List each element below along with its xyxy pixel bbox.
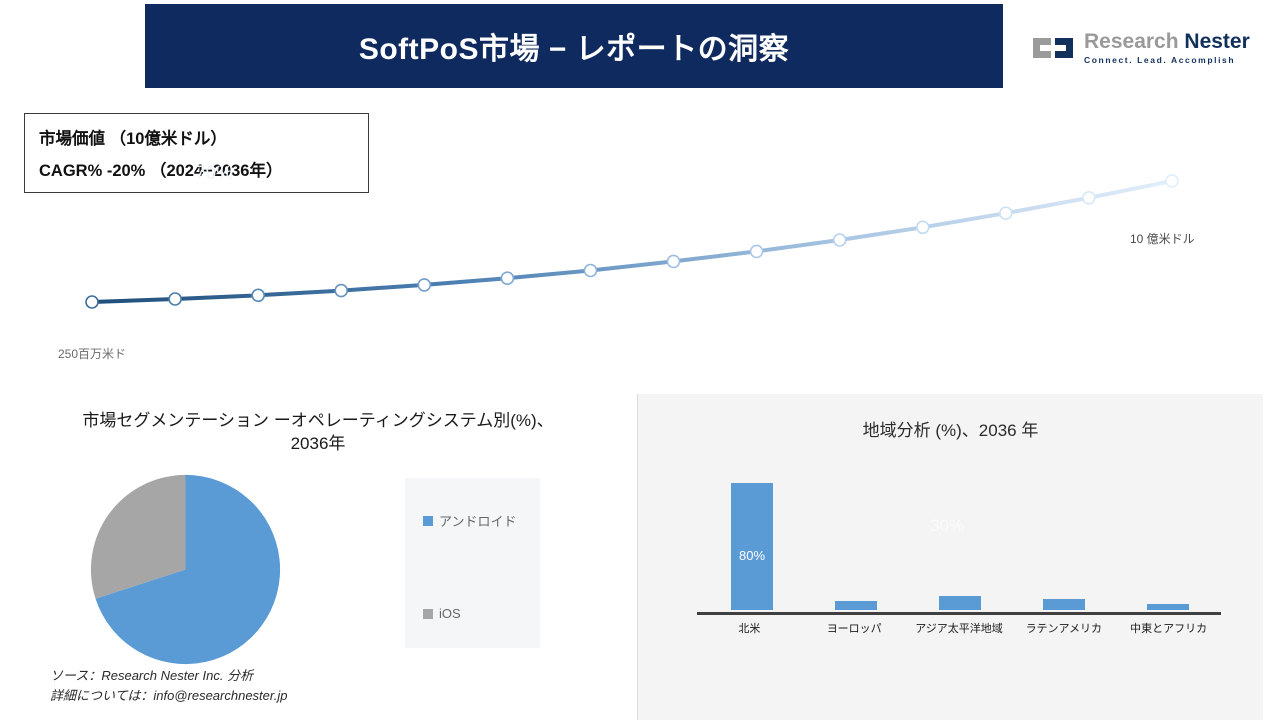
linked-squares-logo-icon (1030, 33, 1076, 63)
header-banner: SoftPoS市場 − レポートの洞察 (145, 4, 1003, 88)
bar-category-label: 北米 (697, 620, 802, 636)
bar[interactable] (835, 601, 877, 611)
logo-word-nester: Nester (1184, 30, 1249, 53)
line-marker (751, 245, 763, 257)
pie-chart-svg (88, 472, 283, 667)
bar-chart-title: 地域分析 (%)、2036 年 (638, 416, 1263, 441)
bar[interactable] (1043, 599, 1085, 610)
bar-cell: 80% (700, 470, 804, 610)
line-marker (501, 272, 513, 284)
logo-text: Research Nester Connect. Lead. Accomplis… (1084, 31, 1250, 65)
line-marker (1000, 207, 1012, 219)
line-marker (335, 285, 347, 297)
source-line-1: ソース：Research Nester Inc. 分析 (50, 666, 287, 686)
bar-category-label: ヨーロッパ (802, 620, 907, 636)
bar[interactable] (939, 596, 981, 610)
bar-cell (1012, 470, 1116, 610)
bar-cell (908, 470, 1012, 610)
legend-item-ios[interactable]: iOS (423, 606, 461, 621)
line-marker (668, 255, 680, 267)
bar[interactable] (1147, 604, 1189, 610)
logo-word-research: Research (1084, 30, 1179, 53)
line-marker (86, 296, 98, 308)
bar-cell (1116, 470, 1220, 610)
page-title: SoftPoS市場 − レポートの洞察 (359, 24, 789, 68)
logo-tagline: Connect. Lead. Accomplish (1084, 56, 1250, 65)
legend-swatch-ios (423, 609, 433, 619)
source-note: ソース：Research Nester Inc. 分析 詳細については：info… (50, 666, 287, 706)
source-line-2: 詳細については：info@researchnester.jp (50, 686, 287, 706)
market-value-line-chart: 250百万米ド 10 億米ドル 2023年2024年2025年2026年2027… (0, 100, 1280, 390)
legend-item-android[interactable]: アンドロイド (423, 511, 516, 530)
pie-slices (91, 475, 280, 664)
research-nester-logo: Research Nester Connect. Lead. Accomplis… (1030, 22, 1265, 74)
line-marker (252, 289, 264, 301)
line-marker (834, 234, 846, 246)
pie-legend: アンドロイド iOS (405, 478, 540, 648)
bar-data-label: 80% (700, 548, 804, 563)
bar-category-label: アジア太平洋地域 (907, 620, 1012, 636)
pie-slice-label-android: 70% (195, 163, 233, 185)
line-marker (418, 279, 430, 291)
legend-swatch-android (423, 516, 433, 526)
line-series-markers (86, 175, 1178, 308)
logo-wordmark: Research Nester (1084, 31, 1250, 52)
bar[interactable] (731, 483, 773, 610)
bar-series: 80% (700, 470, 1220, 610)
line-marker (1083, 192, 1095, 204)
bar-category-label: 中東とアフリカ (1116, 620, 1221, 636)
bar-cell (804, 470, 908, 610)
pie-chart-title: 市場セグメンテーション ーオペレーティングシステム別(%)、2036年 (68, 410, 568, 456)
line-marker (1166, 175, 1178, 187)
line-chart-svg (0, 100, 1280, 390)
legend-label-android: アンドロイド (439, 511, 516, 530)
bar-chart-baseline (697, 612, 1221, 615)
legend-label-ios: iOS (439, 606, 461, 621)
line-marker (917, 221, 929, 233)
line-marker (169, 293, 181, 305)
line-series-path (92, 181, 1172, 302)
bar-chart-category-axis: 北米ヨーロッパアジア太平洋地域ラテンアメリカ中東とアフリカ (697, 620, 1221, 636)
bar-category-label: ラテンアメリカ (1011, 620, 1116, 636)
line-marker (585, 265, 597, 277)
bar-chart-plot-area: 80% (700, 470, 1220, 613)
